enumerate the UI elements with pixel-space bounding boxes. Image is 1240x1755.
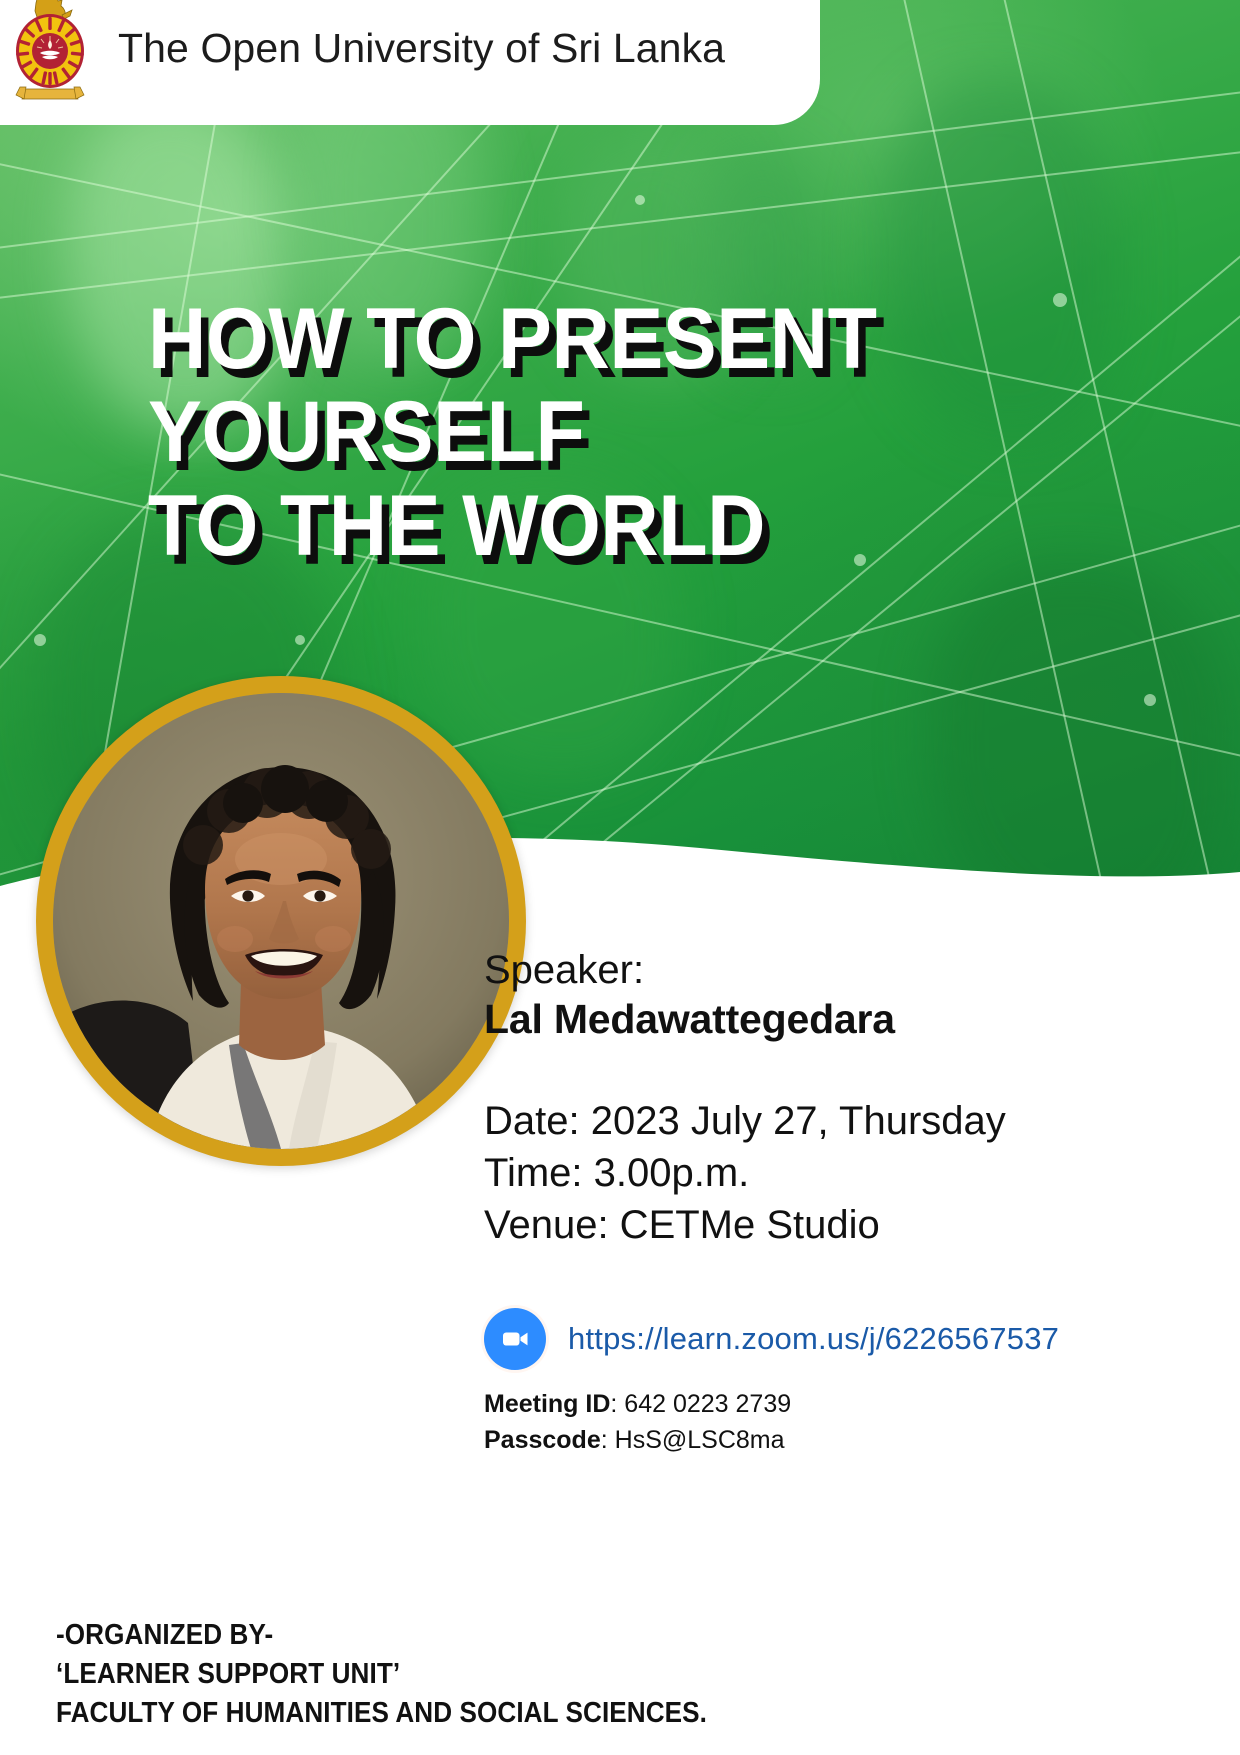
- title-line-3: TO THE WORLD: [148, 485, 877, 568]
- organizer-block: -ORGANIZED BY- ‘LEARNER SUPPORT UNIT’ FA…: [56, 1616, 707, 1733]
- organizer-unit: ‘LEARNER SUPPORT UNIT’: [56, 1655, 707, 1694]
- meeting-id-row: Meeting ID: 642 0223 2739: [484, 1386, 791, 1422]
- event-date: Date: 2023 July 27, Thursday: [484, 1095, 1006, 1147]
- event-details: Speaker: Lal Medawattegedara Date: 2023 …: [484, 946, 1006, 1251]
- passcode-label: Passcode: [484, 1426, 601, 1454]
- organizer-faculty: FACULTY OF HUMANITIES AND SOCIAL SCIENCE…: [56, 1694, 707, 1733]
- speaker-name: Lal Medawattegedara: [484, 995, 1006, 1043]
- speaker-label: Speaker:: [484, 946, 1006, 995]
- header-banner: The Open University of Sri Lanka: [0, 0, 820, 125]
- zoom-meeting-url[interactable]: https://learn.zoom.us/j/6226567537: [568, 1321, 1059, 1357]
- university-name: The Open University of Sri Lanka: [118, 25, 725, 72]
- speaker-photo: [53, 693, 509, 1149]
- meeting-id-label: Meeting ID: [484, 1390, 610, 1418]
- zoom-link-row[interactable]: https://learn.zoom.us/j/6226567537: [484, 1308, 1059, 1370]
- meeting-credentials: Meeting ID: 642 0223 2739 Passcode: HsS@…: [484, 1386, 791, 1458]
- ousl-crest-icon: [0, 0, 100, 107]
- speaker-portrait: [36, 676, 526, 1166]
- organized-by-label: -ORGANIZED BY-: [56, 1616, 707, 1655]
- meeting-id-value: : 642 0223 2739: [610, 1390, 791, 1418]
- passcode-value: : HsS@LSC8ma: [601, 1426, 785, 1454]
- title-line-2: YOURSELF: [148, 391, 877, 474]
- title-line-1: HOW TO PRESENT: [148, 298, 877, 381]
- zoom-video-icon: [484, 1308, 546, 1370]
- event-poster: The Open University of Sri Lanka HOW TO …: [0, 0, 1240, 1755]
- event-time: Time: 3.00p.m.: [484, 1147, 1006, 1199]
- event-venue: Venue: CETMe Studio: [484, 1199, 1006, 1251]
- poster-title: HOW TO PRESENT YOURSELF TO THE WORLD: [148, 298, 877, 568]
- passcode-row: Passcode: HsS@LSC8ma: [484, 1422, 791, 1458]
